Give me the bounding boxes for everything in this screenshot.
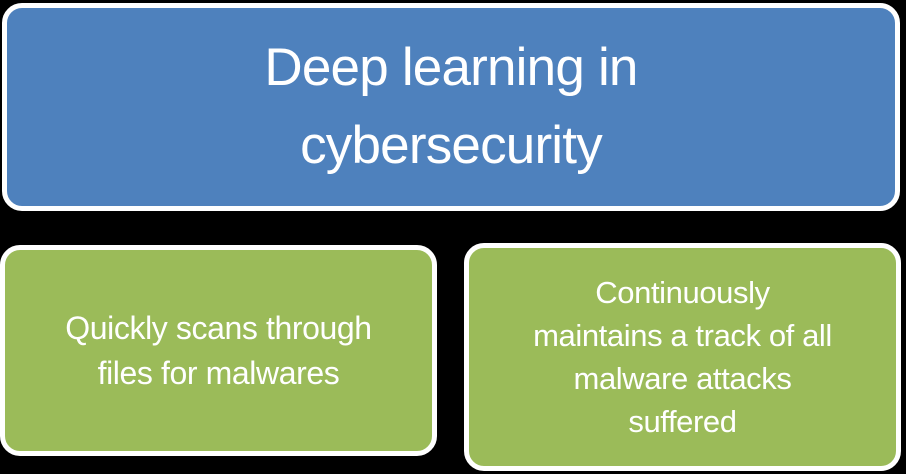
diagram-child-node-1-text: Quickly scans through files for malwares bbox=[5, 306, 432, 396]
diagram-canvas: Deep learning in cybersecurity Quickly s… bbox=[0, 0, 906, 474]
diagram-title-text: Deep learning in cybersecurity bbox=[7, 29, 895, 185]
diagram-child-node-1[interactable]: Quickly scans through files for malwares bbox=[0, 245, 437, 456]
diagram-child-node-2-text: Continuously maintains a track of all ma… bbox=[469, 271, 896, 443]
diagram-title-node[interactable]: Deep learning in cybersecurity bbox=[2, 3, 900, 211]
diagram-child-node-2[interactable]: Continuously maintains a track of all ma… bbox=[464, 243, 901, 471]
